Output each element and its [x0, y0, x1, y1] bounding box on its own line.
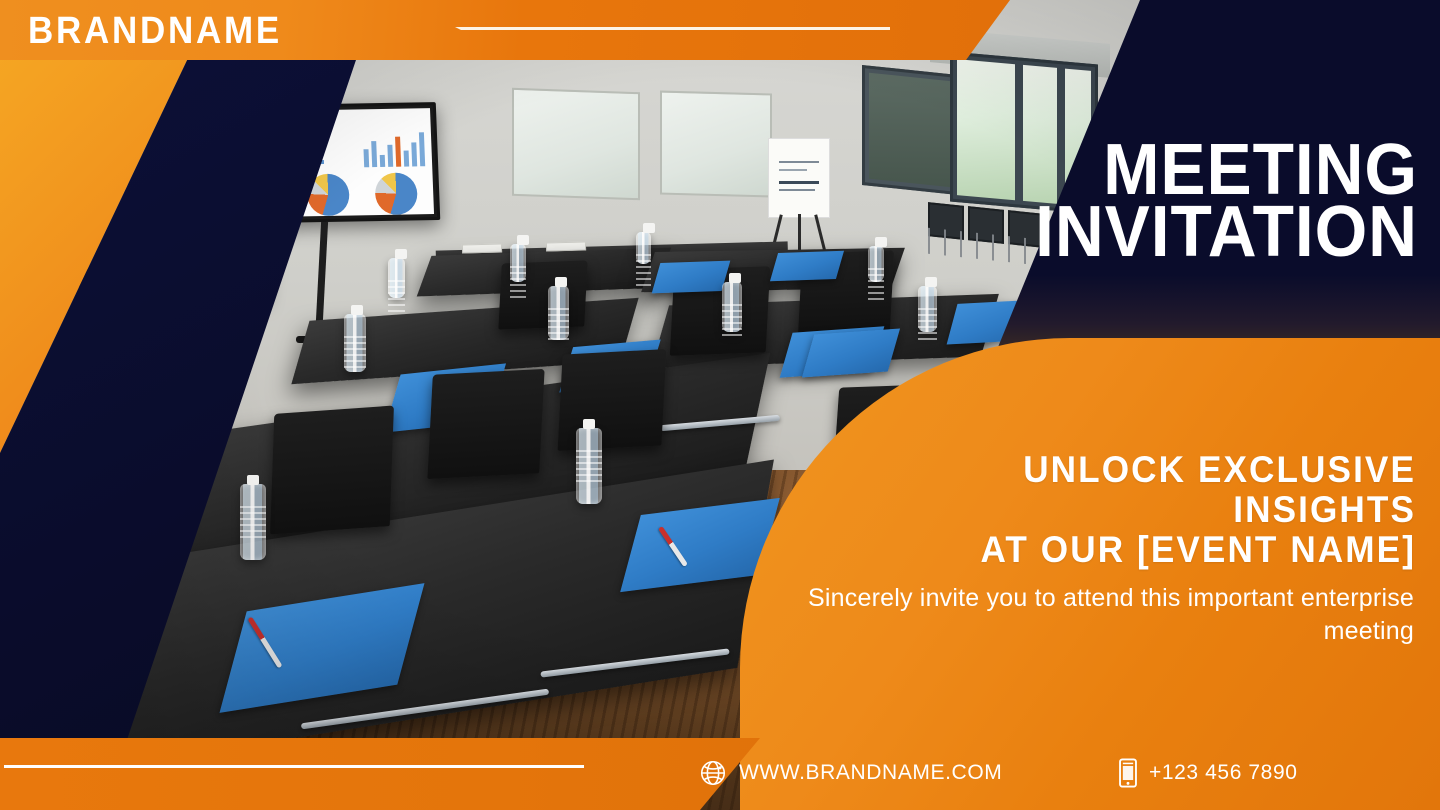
- meeting-invitation-poster: BRANDNAME MEETING INVITATION UNLOCK EXCL…: [0, 0, 1440, 810]
- website-text: WWW.BRANDNAME.COM: [739, 761, 1002, 785]
- water-bottle: [636, 232, 651, 264]
- flip-chart: [768, 138, 830, 218]
- water-bottle: [240, 484, 266, 560]
- phone-text: +123 456 7890: [1149, 761, 1298, 785]
- water-bottle: [510, 244, 526, 282]
- office-chair: [558, 349, 667, 451]
- water-bottle: [918, 286, 937, 332]
- water-bottle: [576, 428, 602, 504]
- website-contact[interactable]: WWW.BRANDNAME.COM: [698, 758, 1002, 788]
- name-plate: [462, 243, 502, 253]
- title-line-2: INVITATION: [929, 202, 1418, 264]
- page-title: MEETING INVITATION: [898, 140, 1418, 264]
- headline: UNLOCK EXCLUSIVE INSIGHTS AT OUR [EVENT …: [816, 450, 1416, 570]
- office-chair: [270, 406, 394, 535]
- water-bottle: [722, 282, 742, 332]
- headline-line-2: AT OUR [EVENT NAME]: [846, 530, 1416, 570]
- brand-logo: BRANDNAME: [28, 12, 282, 50]
- top-divider-line: [455, 27, 890, 30]
- mobile-phone-icon: [1118, 758, 1138, 788]
- office-chair: [427, 369, 544, 479]
- body-text: Sincerely invite you to attend this impo…: [794, 582, 1414, 647]
- bottom-divider-line: [4, 765, 584, 768]
- whiteboard: [660, 91, 772, 198]
- water-bottle: [868, 246, 884, 282]
- water-bottle: [388, 258, 405, 298]
- whiteboard: [512, 88, 640, 200]
- water-bottle: [344, 314, 366, 372]
- globe-icon: [698, 758, 728, 788]
- headline-line-1: UNLOCK EXCLUSIVE INSIGHTS: [846, 450, 1416, 530]
- footer-contacts: WWW.BRANDNAME.COM +123 456 7890: [690, 750, 1430, 796]
- blue-folder: [802, 329, 900, 378]
- water-bottle: [548, 286, 569, 340]
- blue-folder: [770, 251, 844, 282]
- blue-folder: [652, 261, 731, 294]
- phone-contact[interactable]: +123 456 7890: [1118, 758, 1298, 788]
